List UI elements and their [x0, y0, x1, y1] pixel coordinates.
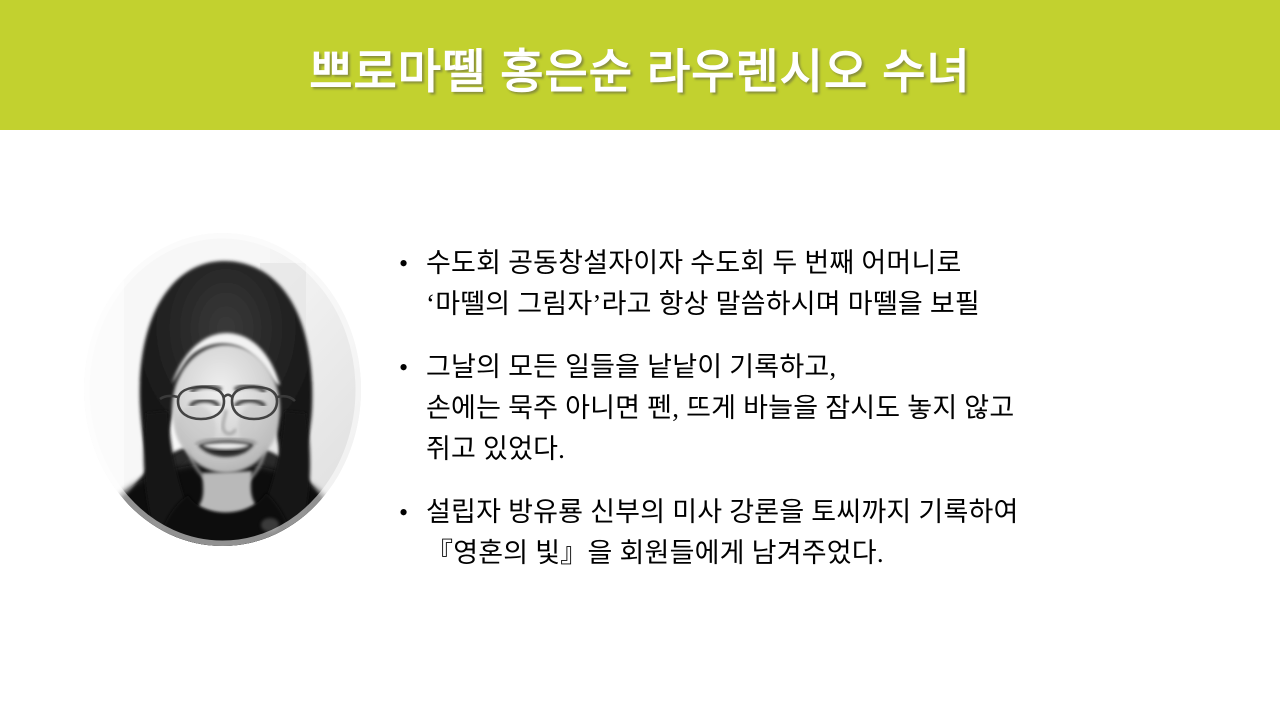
list-item-text: 설립자 방유룡 신부의 미사 강론을 토씨까지 기록하여 『영혼의 빛』을 회원…: [426, 492, 1252, 574]
bullet-marker-icon: •: [396, 243, 426, 284]
list-item-line: 쥐고 있었다.: [426, 429, 1252, 470]
list-item-line: ‘마뗄의 그림자’라고 항상 말씀하시며 마뗄을 보필: [426, 284, 1252, 325]
list-item-text: 그날의 모든 일들을 낱낱이 기록하고, 손에는 묵주 아니면 펜, 뜨게 바늘…: [426, 347, 1252, 470]
slide-title-bar: 쁘로마뗄 홍은순 라우렌시오 수녀: [0, 0, 1280, 130]
bullet-list: • 수도회 공동창설자이자 수도회 두 번째 어머니로 ‘마뗄의 그림자’라고 …: [396, 243, 1252, 596]
bullet-marker-icon: •: [396, 347, 426, 388]
bullet-marker-icon: •: [396, 492, 426, 533]
page-title: 쁘로마뗄 홍은순 라우렌시오 수녀: [0, 0, 1280, 130]
list-item-line: 설립자 방유룡 신부의 미사 강론을 토씨까지 기록하여: [426, 492, 1252, 533]
slide-content-area: • 수도회 공동창설자이자 수도회 두 번째 어머니로 ‘마뗄의 그림자’라고 …: [0, 130, 1280, 720]
portrait-svg: [84, 233, 361, 546]
list-item-line: 손에는 묵주 아니면 펜, 뜨게 바늘을 잠시도 놓지 않고: [426, 388, 1252, 429]
list-item: • 수도회 공동창설자이자 수도회 두 번째 어머니로 ‘마뗄의 그림자’라고 …: [396, 243, 1252, 325]
list-item: • 그날의 모든 일들을 낱낱이 기록하고, 손에는 묵주 아니면 펜, 뜨게 …: [396, 347, 1252, 470]
list-item: • 설립자 방유룡 신부의 미사 강론을 토씨까지 기록하여 『영혼의 빛』을 …: [396, 492, 1252, 574]
portrait-photo: [84, 233, 361, 546]
list-item-line: 수도회 공동창설자이자 수도회 두 번째 어머니로: [426, 243, 1252, 284]
list-item-line: 그날의 모든 일들을 낱낱이 기록하고,: [426, 347, 1252, 388]
list-item-text: 수도회 공동창설자이자 수도회 두 번째 어머니로 ‘마뗄의 그림자’라고 항상…: [426, 243, 1252, 325]
list-item-line: 『영혼의 빛』을 회원들에게 남겨주었다.: [426, 533, 1252, 574]
